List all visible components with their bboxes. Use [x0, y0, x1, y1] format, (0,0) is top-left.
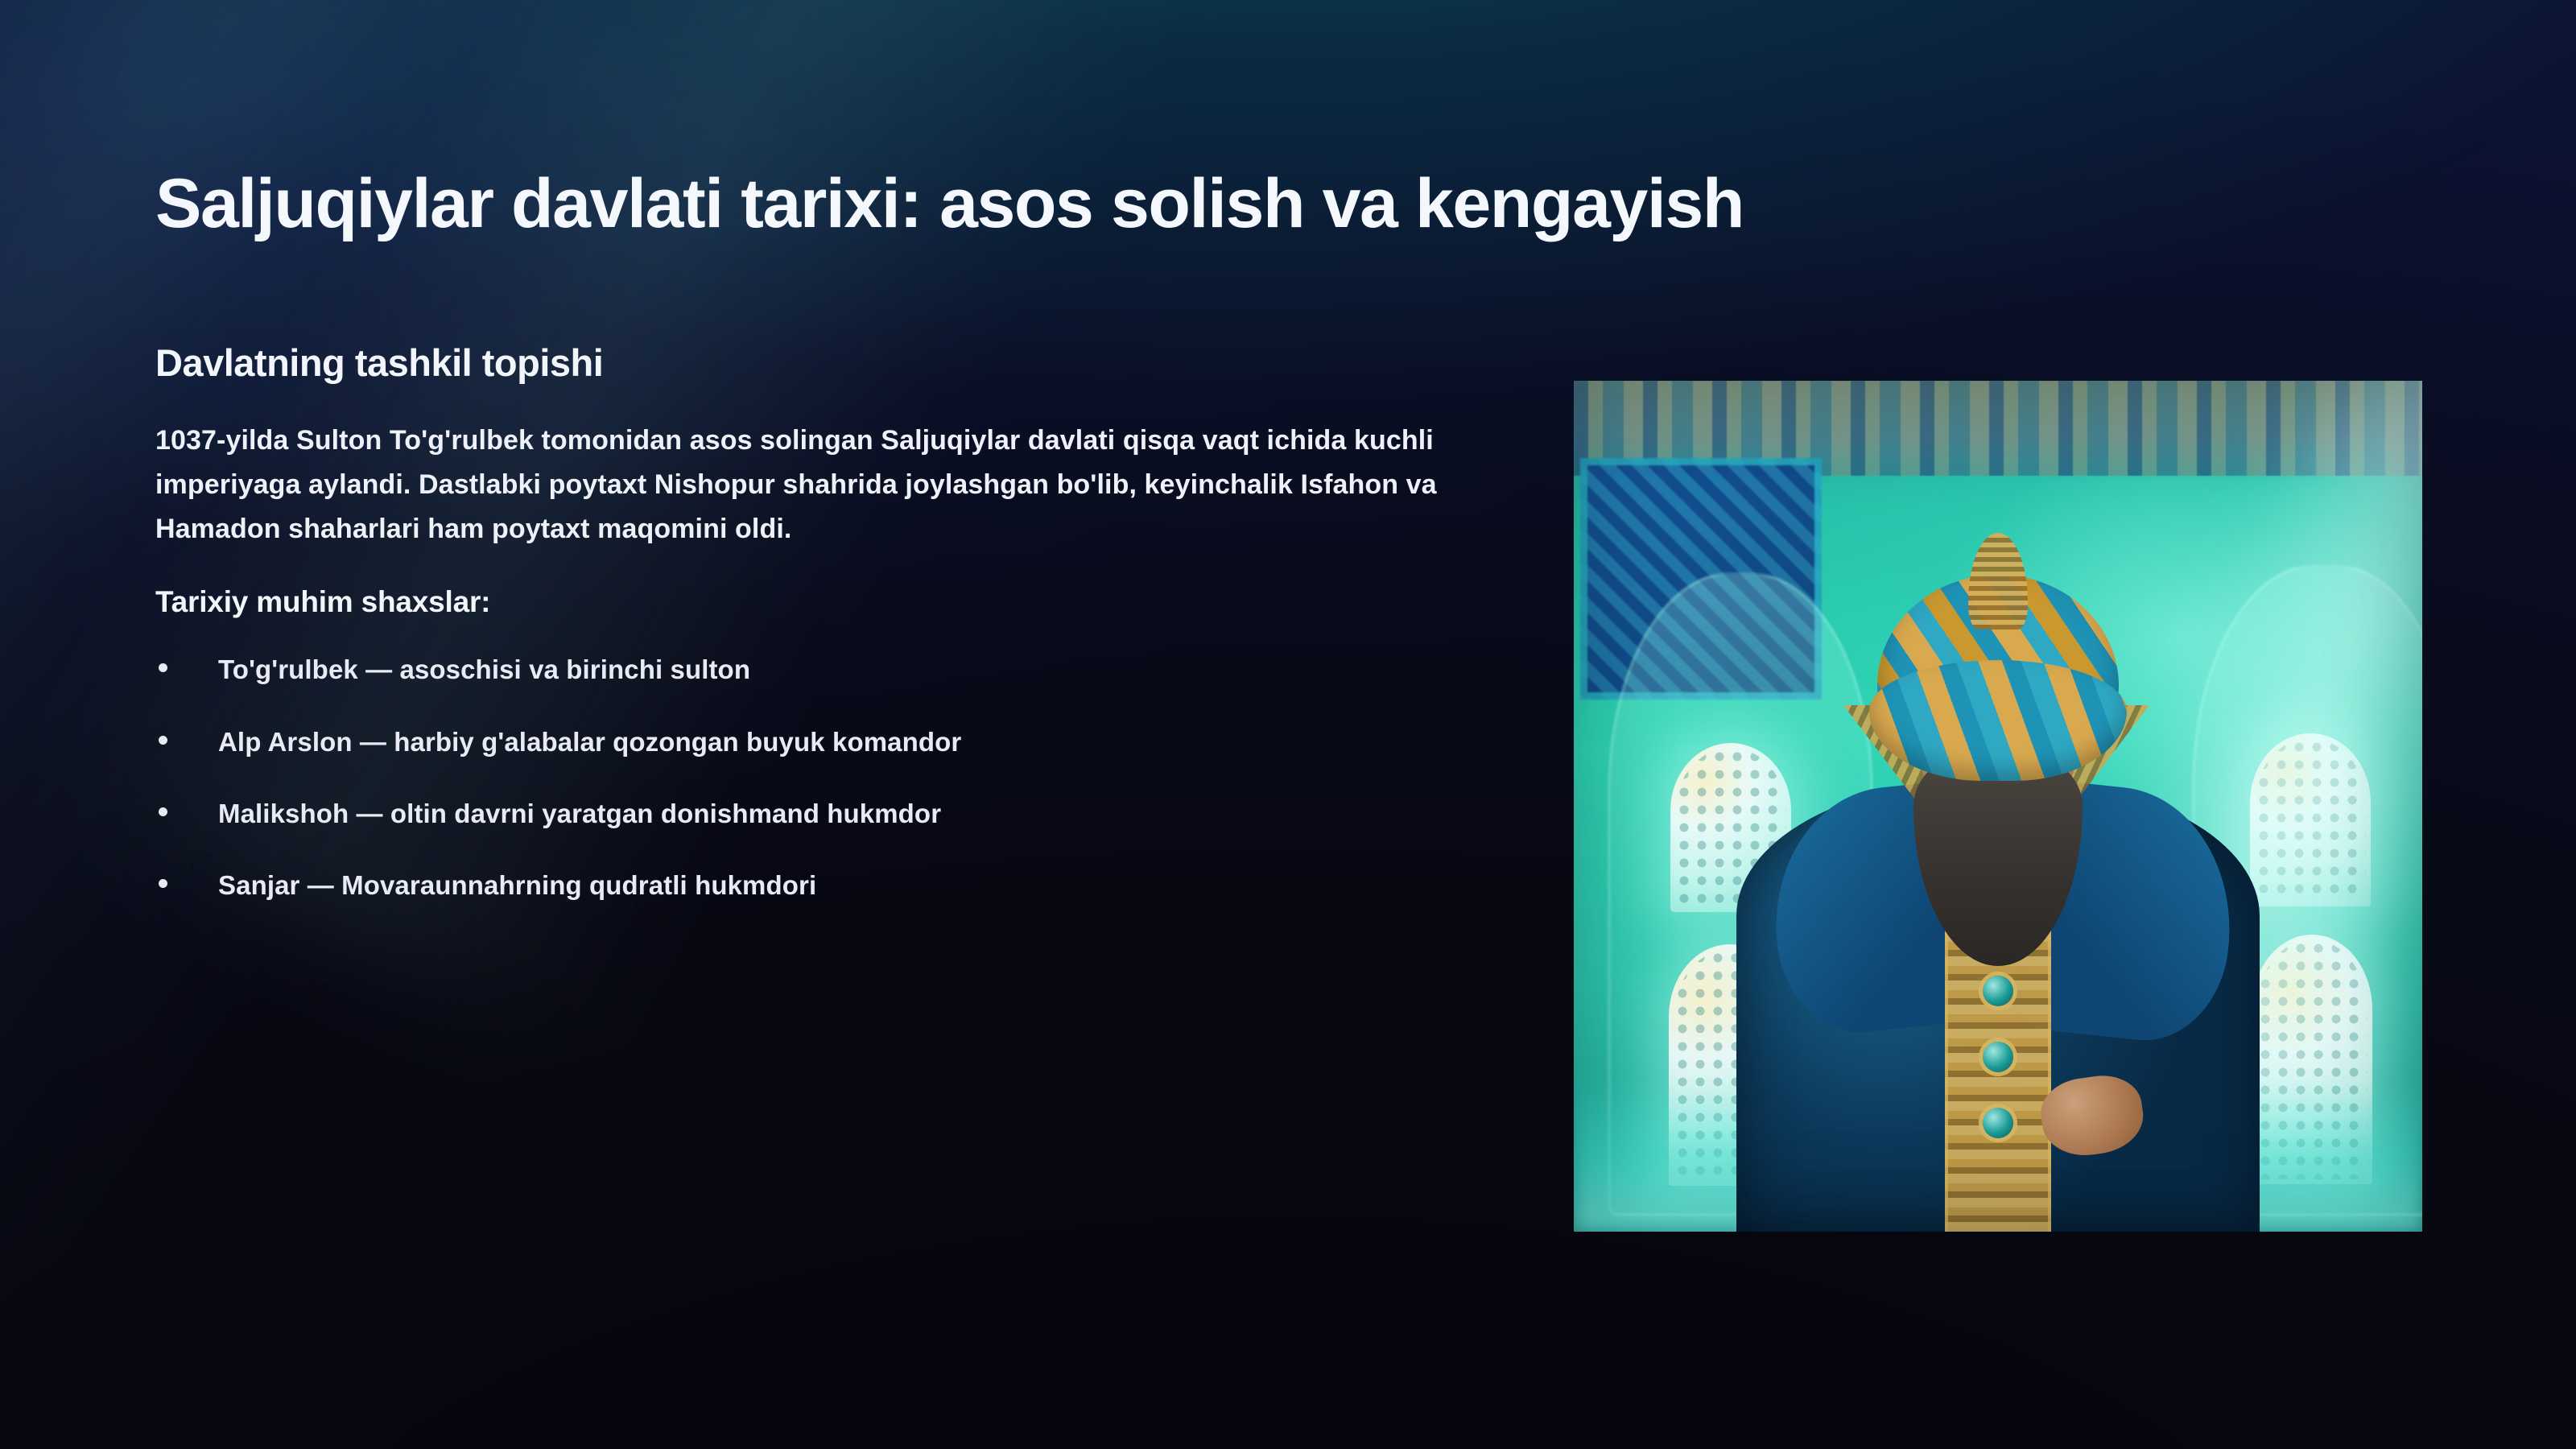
list-heading: Tarixiy muhim shaxslar: [155, 585, 1540, 619]
slide-content-column: Saljuqiylar davlati tarixi: asos solish … [155, 167, 1540, 902]
presentation-slide: Saljuqiylar davlati tarixi: asos solish … [0, 0, 2576, 1449]
list-item: To'g'rulbek — asoschisi va birinchi sult… [155, 653, 1540, 686]
list-item: Sanjar — Movaraunnahrning qudratli hukmd… [155, 869, 1540, 902]
bullet-dot-icon [159, 807, 167, 816]
historical-figures-list: To'g'rulbek — asoschisi va birinchi sult… [155, 653, 1540, 902]
page-title: Saljuqiylar davlati tarixi: asos solish … [155, 167, 1540, 241]
list-item: Malikshoh — oltin davrni yaratgan donish… [155, 797, 1540, 830]
bullet-dot-icon [159, 736, 167, 745]
sultan-portrait-image [1574, 381, 2422, 1232]
gem [1983, 1042, 2013, 1072]
gem [1983, 1108, 2013, 1138]
body-paragraph: 1037-yilda Sulton To'g'rulbek tomonidan … [155, 419, 1488, 551]
sultan-figure [1732, 539, 2264, 1232]
section-heading: Davlatning tashkil topishi [155, 341, 1540, 385]
slide-illustration [1574, 381, 2422, 1232]
turban-wrap [1869, 660, 2127, 781]
list-item-label: Sanjar — Movaraunnahrning qudratli hukmd… [218, 870, 816, 900]
list-item-label: To'g'rulbek — asoschisi va birinchi sult… [218, 654, 750, 684]
list-item: Alp Arslon — harbiy g'alabalar qozongan … [155, 725, 1540, 758]
bullet-dot-icon [159, 879, 167, 888]
gem [1983, 976, 2013, 1006]
bullet-dot-icon [159, 663, 167, 672]
list-item-label: Alp Arslon — harbiy g'alabalar qozongan … [218, 727, 961, 757]
turban-cap [1968, 533, 2028, 630]
list-item-label: Malikshoh — oltin davrni yaratgan donish… [218, 799, 941, 828]
